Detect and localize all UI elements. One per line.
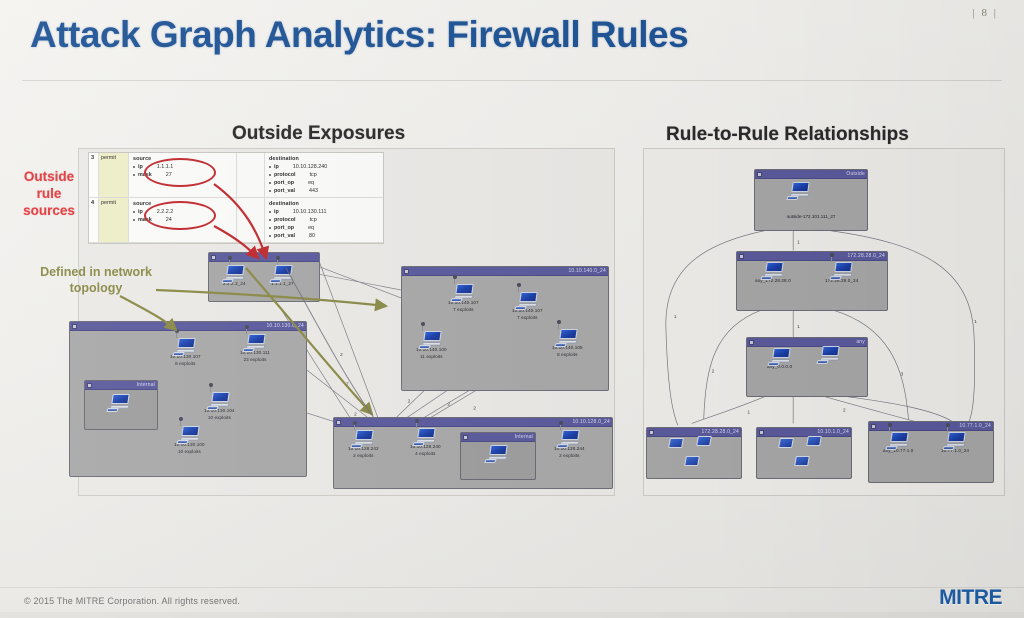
window-titlebar: 10.10.140.0_24 <box>402 267 608 276</box>
rule-source-cell: source ip1.1.1.1 mask27 <box>129 153 237 197</box>
host-exploits: 4 exploits <box>410 451 441 457</box>
host-icon-node[interactable]: 10.10.128.244 2 exploits <box>554 430 585 458</box>
host-icon-node[interactable]: 10.10.130.111 23 exploits <box>240 334 270 362</box>
window-button-icon[interactable] <box>463 435 468 440</box>
window-button-icon[interactable] <box>336 420 341 425</box>
host-icon-node[interactable] <box>487 445 507 460</box>
link-stalk-icon <box>518 285 519 292</box>
source-label: source <box>133 155 236 163</box>
svg-text:2: 2 <box>473 405 476 411</box>
window-titlebar: Internal <box>85 381 157 390</box>
source-label: source <box>133 200 236 208</box>
link-stalk-icon <box>210 385 211 392</box>
rule-spacer-cell <box>237 198 265 242</box>
host-icon-node[interactable]: any_172.28.28.0 <box>755 262 791 284</box>
page-number: | 8 | <box>973 7 998 19</box>
host-icon-node[interactable]: 10.10.130.107 8 exploits <box>170 338 201 366</box>
svg-text:1: 1 <box>747 409 750 415</box>
dest-field-port-op: port_opeq <box>269 179 383 187</box>
link-stalk-icon <box>831 255 832 262</box>
firewall-rules-table[interactable]: 3 permit source ip1.1.1.1 mask27 destina… <box>88 152 384 244</box>
cluster-title: 10.10.140.0_24 <box>568 268 606 274</box>
host-icon-node[interactable]: 10.10.140.107 7 exploits <box>448 284 479 312</box>
link-stalk-icon <box>176 331 177 338</box>
window-titlebar: 172.28.28.0_24 <box>737 252 887 261</box>
host-exploits: 23 exploits <box>240 357 270 363</box>
svg-text:2: 2 <box>408 399 411 405</box>
host-icon-node[interactable] <box>789 182 809 197</box>
host-icon-node[interactable] <box>109 394 129 409</box>
computer-icon <box>819 346 839 361</box>
sub-cluster-internal[interactable]: Internal <box>84 380 158 430</box>
dest-field-port-val: port_val443 <box>269 187 383 195</box>
network-cluster-icon <box>777 434 833 470</box>
svg-text:1: 1 <box>797 324 800 330</box>
computer-icon <box>421 331 441 346</box>
window-button-icon[interactable] <box>739 254 744 259</box>
dest-field-port-val: port_val80 <box>269 232 383 240</box>
host-icon-node[interactable]: 10.10.130.104 10 exploits <box>204 392 235 420</box>
link-stalk-icon <box>277 258 278 265</box>
host-icon-node[interactable]: 172.28.28.0_24 <box>825 262 858 284</box>
svg-text:3: 3 <box>901 372 904 378</box>
node-any[interactable]: any any_0.0.0.0 <box>746 337 868 397</box>
computer-icon <box>557 329 577 344</box>
host-icon-node[interactable]: 10.10.128.242 2 exploits <box>348 430 379 458</box>
window-titlebar: Internal <box>461 433 535 442</box>
host-exploits: 7 exploits <box>512 315 543 321</box>
window-titlebar: 10.10.130.0_24 <box>70 322 306 331</box>
rule-source-cell: source ip2.2.2.2 mask24 <box>129 198 237 242</box>
link-stalk-icon <box>889 425 890 432</box>
page-title: Attack Graph Analytics: Firewall Rules <box>30 14 688 56</box>
link-stalk-icon <box>246 327 247 334</box>
node-10-77-1-0-24[interactable]: 10.77.1.0_24 any_10.77.1.0 10.77.1.0_24 <box>868 421 994 483</box>
computer-icon <box>517 292 537 307</box>
source-field-ip: ip1.1.1.1 <box>133 163 236 171</box>
link-stalk-icon <box>454 277 455 284</box>
computer-icon <box>789 182 809 197</box>
bottom-bar <box>0 612 1024 618</box>
window-titlebar: any <box>747 338 867 347</box>
host-exploits: 8 exploits <box>170 361 201 367</box>
rule-destination-cell: destination ip10.10.128.240 protocoltcp … <box>265 153 383 197</box>
exposure-node-2222[interactable]: 2.2.2.2_24 1.1.1.1_27 <box>208 252 320 302</box>
host-exploits: 2 exploits <box>554 453 585 459</box>
link-stalk-icon <box>354 423 355 430</box>
computer-icon <box>224 265 244 280</box>
window-titlebar: Outside <box>755 170 867 179</box>
host-exploits: 7 exploits <box>448 307 479 313</box>
svg-text:1: 1 <box>674 314 677 320</box>
window-button-icon[interactable] <box>649 430 654 435</box>
svg-text:1: 1 <box>974 319 977 325</box>
destination-label: destination <box>269 155 383 163</box>
host-exploits: 10 exploits <box>204 415 235 421</box>
window-button-icon[interactable] <box>871 424 876 429</box>
window-button-icon[interactable] <box>404 269 409 274</box>
sub-cluster-title: Internal <box>515 434 533 440</box>
svg-text:2: 2 <box>843 407 846 413</box>
cluster-title: 10.10.130.0_24 <box>266 323 304 329</box>
host-icon-node[interactable]: 1.1.1.1_27 <box>271 265 294 287</box>
host-exploits: 11 exploits <box>416 354 447 360</box>
host-icon-node[interactable] <box>819 346 839 361</box>
computer-icon <box>559 430 579 445</box>
computer-icon <box>945 432 965 447</box>
table-row[interactable]: 4 permit source ip2.2.2.2 mask24 destina… <box>89 198 383 243</box>
host-icon-node[interactable]: 10.10.140.105 8 exploits <box>552 329 583 357</box>
link-stalk-icon <box>180 419 181 426</box>
copyright-text: © 2015 The MITRE Corporation. All rights… <box>24 596 240 606</box>
computer-icon <box>175 338 195 353</box>
svg-text:2: 2 <box>712 369 715 375</box>
cluster-10-10-130-0-24[interactable]: 10.10.130.0_24 10.10.130.107 8 exploits … <box>69 321 307 477</box>
node-outside[interactable]: Outside outside-172.101.111_27 <box>754 169 868 231</box>
footer-divider <box>0 587 1024 588</box>
dest-field-ip: ip10.10.130.111 <box>269 208 383 216</box>
computer-icon <box>832 262 852 277</box>
host-exploits: 8 exploits <box>552 352 583 358</box>
computer-icon <box>272 265 292 280</box>
source-field-mask: mask24 <box>133 216 236 224</box>
window-button-icon[interactable] <box>87 383 92 388</box>
svg-text:7: 7 <box>346 382 349 388</box>
host-icon-node[interactable]: 10.10.128.240 4 exploits <box>410 428 441 456</box>
source-field-ip: ip2.2.2.2 <box>133 208 236 216</box>
rule-index: 4 <box>89 198 99 242</box>
window-button-icon[interactable] <box>757 172 762 177</box>
computer-icon <box>487 445 507 460</box>
window-button-icon[interactable] <box>72 324 77 329</box>
node-title: Outside <box>846 171 865 177</box>
computer-icon <box>353 430 373 445</box>
section-header-outside-exposures: Outside Exposures <box>232 123 405 145</box>
annotation-outside-rule-sources: Outside rule sources <box>10 168 88 219</box>
host-icon-node[interactable]: any_10.77.1.0 <box>883 432 913 454</box>
window-titlebar: 10.10.128.0_24 <box>334 418 612 427</box>
window-button-icon[interactable] <box>749 340 754 345</box>
host-icon-node[interactable]: 2.2.2.2_24 <box>223 265 246 287</box>
node-172-28-28-0-24[interactable]: 172.28.28.0_24 any_172.28.28.0 172.28.28… <box>736 251 888 311</box>
link-stalk-icon <box>416 421 417 428</box>
computer-icon <box>245 334 265 349</box>
annotation-defined-in-network-topology: Defined in network topology <box>26 264 166 296</box>
network-cluster-icon <box>667 434 723 470</box>
dest-field-ip: ip10.10.128.240 <box>269 163 383 171</box>
node-title: any <box>856 339 865 345</box>
sub-cluster-title: Internal <box>137 382 155 388</box>
rule-index: 3 <box>89 153 99 197</box>
link-stalk-icon <box>422 324 423 331</box>
host-icon-node[interactable]: 10.10.130.100 10 exploits <box>174 426 205 454</box>
rule-action: permit <box>99 198 129 242</box>
node-label: outside-172.101.111_27 <box>755 214 867 219</box>
link-stalk-icon <box>947 425 948 432</box>
dest-field-protocol: protocoltcp <box>269 216 383 224</box>
computer-icon <box>770 348 790 363</box>
computer-icon <box>179 426 199 441</box>
computer-icon <box>888 432 908 447</box>
host-exploits: 10 exploits <box>174 449 205 455</box>
table-row[interactable]: 3 permit source ip1.1.1.1 mask27 destina… <box>89 153 383 198</box>
rule-to-rule-panel: 11 11 23 12 Outside outside-172.101.111_… <box>643 148 1005 496</box>
cluster-title: 10.10.128.0_24 <box>572 419 610 425</box>
rule-destination-cell: destination ip10.10.130.111 protocoltcp … <box>265 198 383 242</box>
node-title: 172.28.28.0_24 <box>847 253 885 259</box>
node-172-28-28-0-24-bottom[interactable]: 172.28.28.0_24 <box>646 427 742 479</box>
link-stalk-icon <box>558 322 559 329</box>
destination-label: destination <box>269 200 383 208</box>
computer-icon <box>415 428 435 443</box>
cluster-10-10-128-0-24[interactable]: 10.10.128.0_24 10.10.128.242 2 exploits … <box>333 417 613 489</box>
host-icon-node[interactable]: 10.10.140.100 11 exploits <box>416 331 447 359</box>
host-icon-node[interactable]: 10.77.1.0_24 <box>941 432 969 454</box>
window-button-icon[interactable] <box>759 430 764 435</box>
link-stalk-icon <box>229 258 230 265</box>
slide-root: | 8 | Attack Graph Analytics: Firewall R… <box>0 0 1024 618</box>
title-divider <box>22 80 1002 81</box>
source-field-mask: mask27 <box>133 171 236 179</box>
computer-icon <box>453 284 473 299</box>
rule-spacer-cell <box>237 153 265 197</box>
svg-text:2: 2 <box>447 402 450 408</box>
computer-icon <box>763 262 783 277</box>
host-icon-node[interactable]: any_0.0.0.0 <box>767 348 792 370</box>
dest-field-port-op: port_opeq <box>269 224 383 232</box>
dest-field-protocol: protocoltcp <box>269 171 383 179</box>
section-header-rule-to-rule: Rule-to-Rule Relationships <box>666 124 909 146</box>
window-button-icon[interactable] <box>211 255 216 260</box>
svg-text:2: 2 <box>340 352 343 358</box>
link-stalk-icon <box>560 423 561 430</box>
host-icon-node[interactable]: 10.10.140.107 7 exploits <box>512 292 543 320</box>
cluster-10-10-140-0-24[interactable]: 10.10.140.0_24 10.10.140.107 7 exploits … <box>401 266 609 391</box>
host-exploits: 2 exploits <box>348 453 379 459</box>
rule-action: permit <box>99 153 129 197</box>
computer-icon <box>109 394 129 409</box>
mitre-logo: MITRE <box>939 586 1002 610</box>
node-title: 10.77.1.0_24 <box>959 423 991 429</box>
computer-icon <box>209 392 229 407</box>
sub-cluster-internal[interactable]: Internal <box>460 432 536 480</box>
node-10-10-1-0-24[interactable]: 10.10.1.0_24 <box>756 427 852 479</box>
window-titlebar <box>209 253 319 262</box>
svg-text:1: 1 <box>797 239 800 245</box>
